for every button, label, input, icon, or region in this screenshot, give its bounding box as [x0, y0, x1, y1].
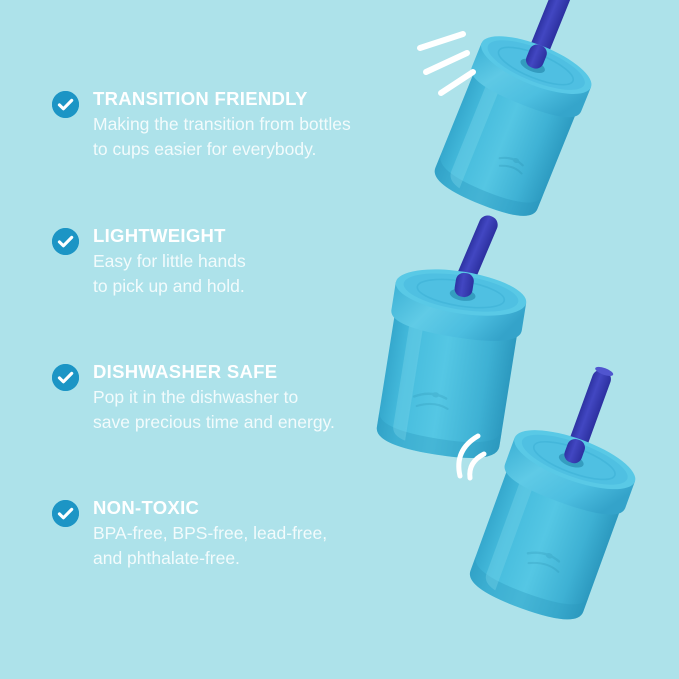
feature-title: LIGHTWEIGHT: [93, 225, 392, 246]
feature-description-line: save precious time and energy.: [93, 410, 392, 435]
feature-title: DISHWASHER SAFE: [93, 361, 392, 382]
feature-text-block: LIGHTWEIGHT Easy for little hands to pic…: [93, 225, 392, 299]
feature-description: BPA-free, BPS-free, lead-free, and phtha…: [93, 521, 392, 571]
feature-text-block: TRANSITION FRIENDLY Making the transitio…: [93, 88, 392, 162]
feature-description-line: Making the transition from bottles: [93, 112, 392, 137]
motion-line-2: [426, 53, 467, 72]
check-circle-icon: [52, 364, 79, 391]
feature-title: NON-TOXIC: [93, 497, 392, 518]
feature-item-lightweight: LIGHTWEIGHT Easy for little hands to pic…: [52, 225, 392, 299]
feature-description: Pop it in the dishwasher to save preciou…: [93, 385, 392, 435]
feature-text-block: NON-TOXIC BPA-free, BPS-free, lead-free,…: [93, 497, 392, 571]
feature-item-transition-friendly: TRANSITION FRIENDLY Making the transitio…: [52, 88, 392, 162]
feature-description-line: Easy for little hands: [93, 249, 392, 274]
feature-description-line: to pick up and hold.: [93, 274, 392, 299]
check-circle-icon: [52, 228, 79, 255]
feature-item-non-toxic: NON-TOXIC BPA-free, BPS-free, lead-free,…: [52, 497, 392, 571]
feature-list: TRANSITION FRIENDLY Making the transitio…: [0, 0, 400, 679]
feature-description-line: Pop it in the dishwasher to: [93, 385, 392, 410]
feature-description: Easy for little hands to pick up and hol…: [93, 249, 392, 299]
motion-arc-2: [470, 454, 484, 478]
feature-description-line: BPA-free, BPS-free, lead-free,: [93, 521, 392, 546]
feature-description-line: to cups easier for everybody.: [93, 137, 392, 162]
feature-title: TRANSITION FRIENDLY: [93, 88, 392, 109]
feature-description: Making the transition from bottles to cu…: [93, 112, 392, 162]
feature-text-block: DISHWASHER SAFE Pop it in the dishwasher…: [93, 361, 392, 435]
feature-item-dishwasher-safe: DISHWASHER SAFE Pop it in the dishwasher…: [52, 361, 392, 435]
motion-line-1: [420, 34, 463, 48]
feature-description-line: and phthalate-free.: [93, 546, 392, 571]
infographic-canvas: TRANSITION FRIENDLY Making the transitio…: [0, 0, 679, 679]
check-circle-icon: [52, 91, 79, 118]
motion-line-3: [441, 72, 473, 93]
check-circle-icon: [52, 500, 79, 527]
motion-lines-top: [415, 20, 495, 110]
motion-lines-bottom: [448, 432, 508, 492]
